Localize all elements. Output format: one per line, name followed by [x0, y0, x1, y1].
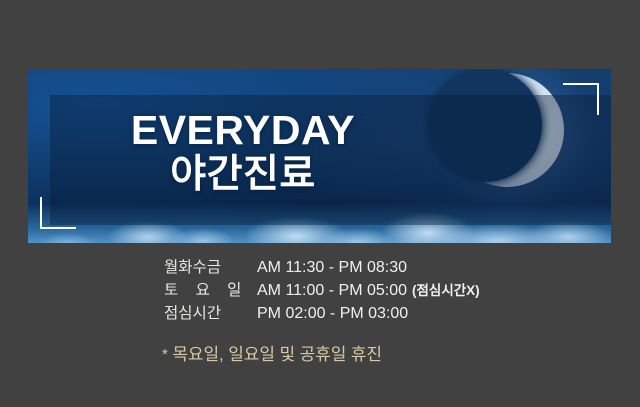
schedule-row-label: 토 요 일: [164, 278, 257, 300]
banner-title-english: EVERYDAY: [28, 109, 458, 152]
night-clinic-hours-poster: { "colors": { "page_background": "#41414…: [0, 0, 640, 407]
schedule-row: 점심시간 PM 02:00 - PM 03:00: [164, 301, 480, 324]
banner-title: EVERYDAY 야간진료: [28, 109, 458, 196]
schedule-row-label: 월화수금: [164, 255, 257, 277]
schedule-row-label: 점심시간: [164, 301, 257, 323]
schedule-row-suffix: (점심시간X): [412, 279, 480, 299]
schedule-row: 토 요 일 AM 11:00 - PM 05:00 (점심시간X): [164, 278, 480, 301]
corner-bracket-bottom-left-icon: [40, 197, 76, 229]
schedule-row-time: AM 11:30 - PM 08:30: [257, 259, 407, 277]
schedule-list: 월화수금 AM 11:30 - PM 08:30 토 요 일 AM 11:00 …: [164, 255, 480, 324]
asterisk-icon: *: [162, 346, 168, 363]
banner-title-korean: 야간진료: [28, 154, 458, 195]
closed-days-footnote: * 목요일, 일요일 및 공휴일 휴진: [162, 340, 382, 365]
night-sky-banner: EVERYDAY 야간진료: [28, 69, 611, 243]
schedule-row-time: AM 11:00 - PM 05:00: [257, 282, 407, 300]
corner-bracket-top-right-icon: [563, 83, 599, 115]
schedule-row-time: PM 02:00 - PM 03:00: [257, 305, 408, 323]
schedule-row: 월화수금 AM 11:30 - PM 08:30: [164, 255, 480, 278]
closed-days-text: 목요일, 일요일 및 공휴일 휴진: [172, 345, 382, 364]
